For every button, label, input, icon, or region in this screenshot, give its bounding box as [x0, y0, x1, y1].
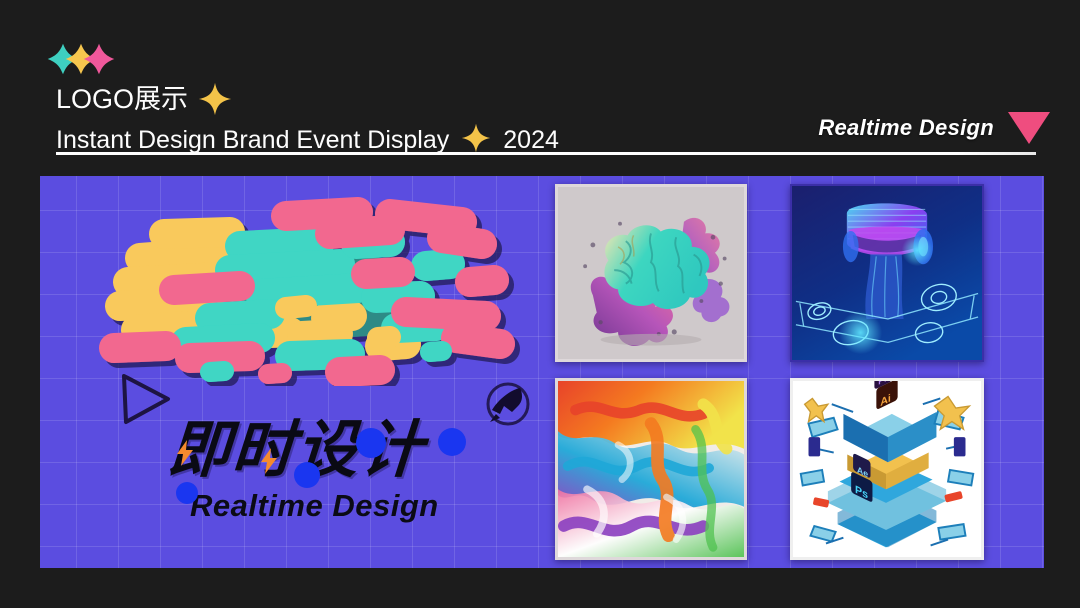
sparkle-icon-2 — [461, 118, 491, 148]
wordmark-en: Realtime Design — [190, 490, 548, 521]
thumbnail-adobe-isometric[interactable]: Ae Pr Ps Ai — [790, 378, 984, 560]
accent-dot-3 — [356, 428, 386, 458]
accent-dot-1 — [176, 482, 198, 504]
thumbnail-paint-swirl[interactable] — [555, 378, 747, 560]
header-brand-right: Realtime Design — [818, 112, 1050, 144]
header-right-label: Realtime Design — [818, 115, 994, 141]
page-header: LOGO展示 Instant Design Brand Event Displa… — [0, 0, 1080, 155]
bolt-icon-1 — [174, 440, 196, 471]
showcase-canvas: 即时设计 Realtime Design — [40, 176, 1044, 568]
logo-diamond-pink — [82, 42, 116, 76]
sparkle-icon — [198, 82, 232, 116]
wordmark-block: 即时设计 Realtime Design — [168, 420, 548, 520]
abstract-blob-artwork — [90, 186, 530, 386]
bolt-icon-2 — [258, 448, 280, 479]
accent-dot-4 — [438, 428, 466, 456]
header-title-en-row: Instant Design Brand Event Display 2024 — [56, 118, 559, 153]
triangle-down-icon — [1008, 112, 1050, 144]
page-title-cn: LOGO展示 — [56, 86, 188, 113]
showcase-left-panel: 即时设计 Realtime Design — [40, 176, 560, 568]
page-title-en: Instant Design Brand Event Display — [56, 128, 449, 153]
accent-dot-2 — [294, 462, 320, 488]
header-title-cn-row: LOGO展示 — [56, 82, 232, 116]
triangle-outline-icon — [118, 372, 174, 431]
logo-mark — [46, 42, 116, 82]
header-divider — [56, 152, 1036, 155]
page-title-year: 2024 — [503, 128, 559, 153]
thumbnail-vr-cyberpunk[interactable] — [790, 184, 984, 362]
thumbnail-brain-illustration[interactable] — [555, 184, 747, 362]
